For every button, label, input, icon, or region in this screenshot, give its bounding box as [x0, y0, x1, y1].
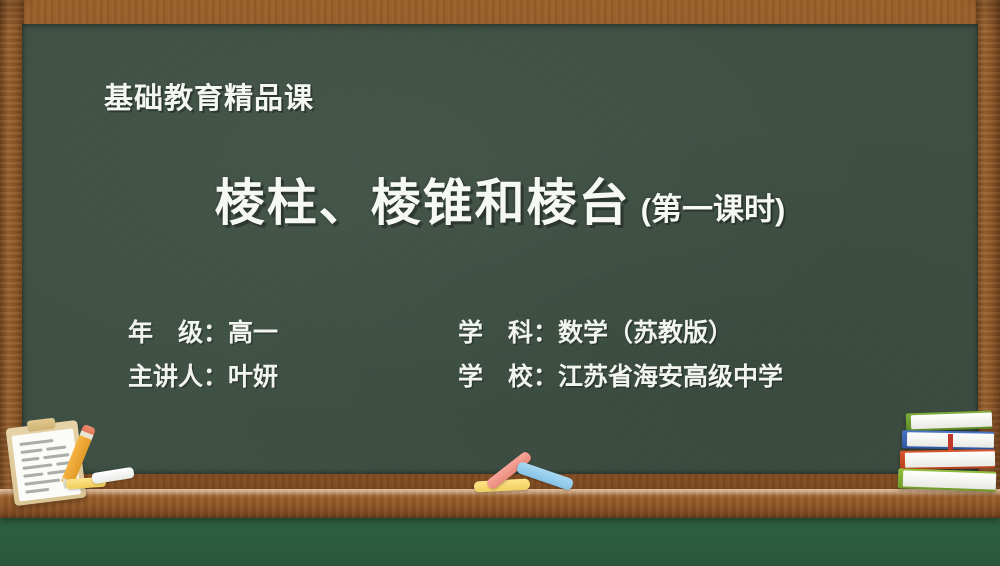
presenter-field: 主讲人：叶妍: [128, 356, 458, 400]
paper-text-line: [20, 448, 42, 454]
paper-text-line: [23, 472, 43, 477]
clipboard-clamp: [27, 418, 56, 432]
paper-text-line: [22, 463, 52, 470]
book-green-top: [906, 411, 993, 432]
book-pages: [911, 413, 992, 430]
subject-field: 学 科：数学（苏教版）: [458, 312, 733, 356]
paper-text-line: [46, 445, 66, 450]
lesson-title-main: 棱柱、棱锥和棱台: [215, 163, 631, 235]
book-pages: [905, 451, 995, 468]
school-field: 学 校：江苏省海安高级中学: [458, 356, 783, 400]
paper-text-line: [19, 439, 53, 446]
paper-text-line: [21, 457, 39, 462]
lesson-metadata: 年 级：高一 学 科：数学（苏教版） 主讲人：叶妍 学 校：江苏省海安高级中学: [128, 312, 888, 400]
lesson-title-session: (第一课时): [641, 184, 786, 229]
book-pages: [903, 470, 997, 489]
program-kicker: 基础教育精品课: [104, 75, 314, 117]
metadata-row: 年 级：高一 学 科：数学（苏教版）: [128, 312, 888, 356]
metadata-row: 主讲人：叶妍 学 校：江苏省海安高级中学: [128, 356, 888, 400]
blackboard-title-slide: 基础教育精品课 棱柱、棱锥和棱台 (第一课时) 年 级：高一 学 科：数学（苏教…: [0, 0, 1000, 566]
chalk-white-icon: [91, 467, 134, 484]
paper-text-line: [25, 488, 49, 494]
chalk-sticks: [470, 462, 580, 496]
grade-field: 年 级：高一: [128, 312, 458, 356]
bookmark-ribbon: [948, 434, 953, 450]
paper-text-line: [24, 478, 60, 485]
paper-text-line: [43, 453, 69, 459]
clipboard-cluster: [6, 412, 136, 504]
stack-of-books: [892, 412, 1000, 508]
book-olive-bottom: [898, 468, 997, 491]
lesson-title: 棱柱、棱锥和棱台 (第一课时): [0, 163, 1000, 235]
book-red: [900, 449, 995, 470]
